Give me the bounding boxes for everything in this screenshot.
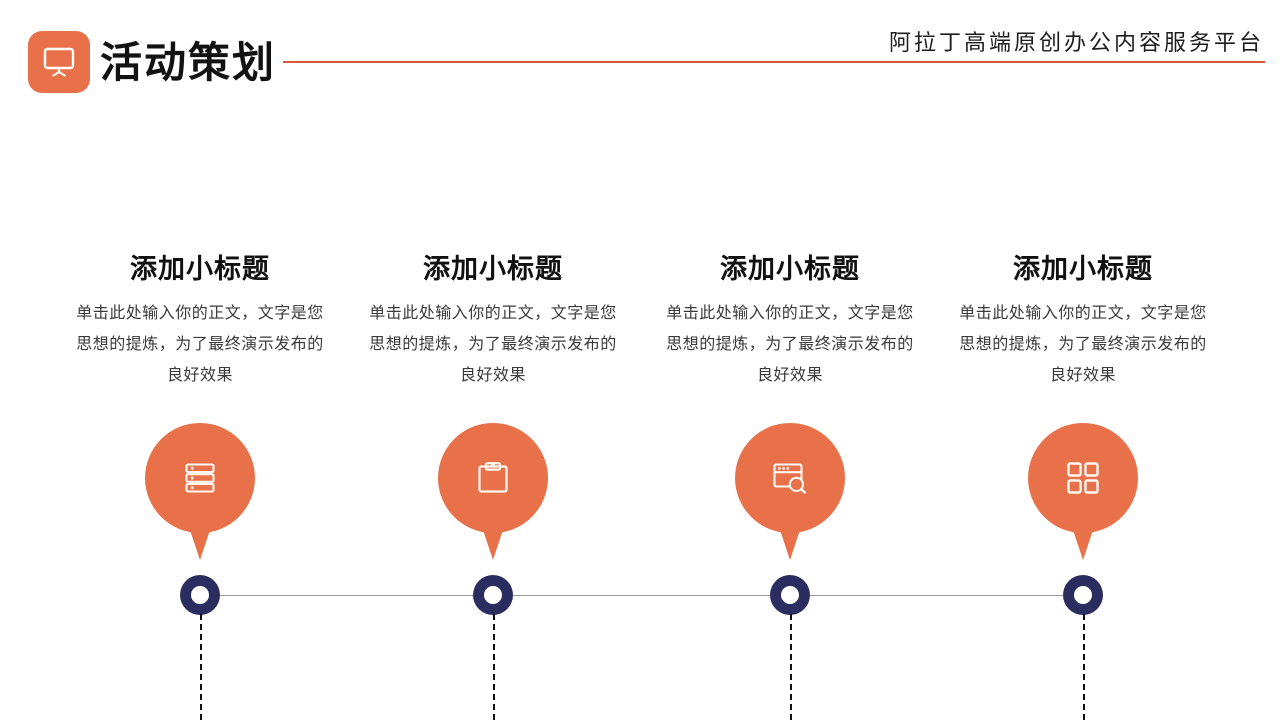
server-stack-icon <box>182 460 218 496</box>
timeline-node-1[interactable] <box>180 575 220 615</box>
timeline-node-4[interactable] <box>1063 575 1103 615</box>
bubble-tail <box>482 527 504 560</box>
timeline-node-center <box>484 586 502 604</box>
browser-search-icon <box>771 460 809 496</box>
column-3: 添加小标题 单击此处输入你的正文，文字是您思想的提炼，为了最终演示发布的良好效果 <box>640 252 940 391</box>
column-body: 单击此处输入你的正文，文字是您思想的提炼，为了最终演示发布的良好效果 <box>640 298 940 391</box>
timeline-node-center <box>191 586 209 604</box>
timeline-node-3[interactable] <box>770 575 810 615</box>
page-title: 活动策划 <box>100 34 276 92</box>
column-1: 添加小标题 单击此处输入你的正文，文字是您思想的提炼，为了最终演示发布的良好效果 <box>50 252 350 391</box>
icon-bubble-3[interactable] <box>735 423 845 533</box>
column-title: 添加小标题 <box>640 252 940 286</box>
presentation-screen-icon <box>28 31 90 93</box>
bubble-tail <box>1072 527 1094 560</box>
grid-four-squares-icon <box>1066 461 1100 495</box>
column-title: 添加小标题 <box>50 252 350 286</box>
timeline-dashed-line-3 <box>790 614 792 720</box>
timeline-node-center <box>781 586 799 604</box>
header-subtitle: 阿拉丁高端原创办公内容服务平台 <box>889 28 1264 58</box>
header-divider-rule <box>283 61 1265 63</box>
timeline-dashed-line-4 <box>1083 614 1085 720</box>
timeline-dashed-line-1 <box>200 614 202 720</box>
column-2: 添加小标题 单击此处输入你的正文，文字是您思想的提炼，为了最终演示发布的良好效果 <box>343 252 643 391</box>
timeline-node-2[interactable] <box>473 575 513 615</box>
bubble-tail <box>779 527 801 560</box>
slide-canvas: 活动策划 阿拉丁高端原创办公内容服务平台 添加小标题 单击此处输入你的正文，文字… <box>0 0 1280 720</box>
column-title: 添加小标题 <box>343 252 643 286</box>
icon-bubble-1[interactable] <box>145 423 255 533</box>
column-body: 单击此处输入你的正文，文字是您思想的提炼，为了最终演示发布的良好效果 <box>50 298 350 391</box>
column-4: 添加小标题 单击此处输入你的正文，文字是您思想的提炼，为了最终演示发布的良好效果 <box>933 252 1233 391</box>
column-title: 添加小标题 <box>933 252 1233 286</box>
bubble-tail <box>189 527 211 560</box>
column-body: 单击此处输入你的正文，文字是您思想的提炼，为了最终演示发布的良好效果 <box>343 298 643 391</box>
timeline-node-center <box>1074 586 1092 604</box>
timeline-connector-line <box>200 595 1083 596</box>
timeline-dashed-line-2 <box>493 614 495 720</box>
icon-bubble-2[interactable] <box>438 423 548 533</box>
icon-bubble-4[interactable] <box>1028 423 1138 533</box>
column-body: 单击此处输入你的正文，文字是您思想的提炼，为了最终演示发布的良好效果 <box>933 298 1233 391</box>
clipboard-icon <box>475 460 511 496</box>
